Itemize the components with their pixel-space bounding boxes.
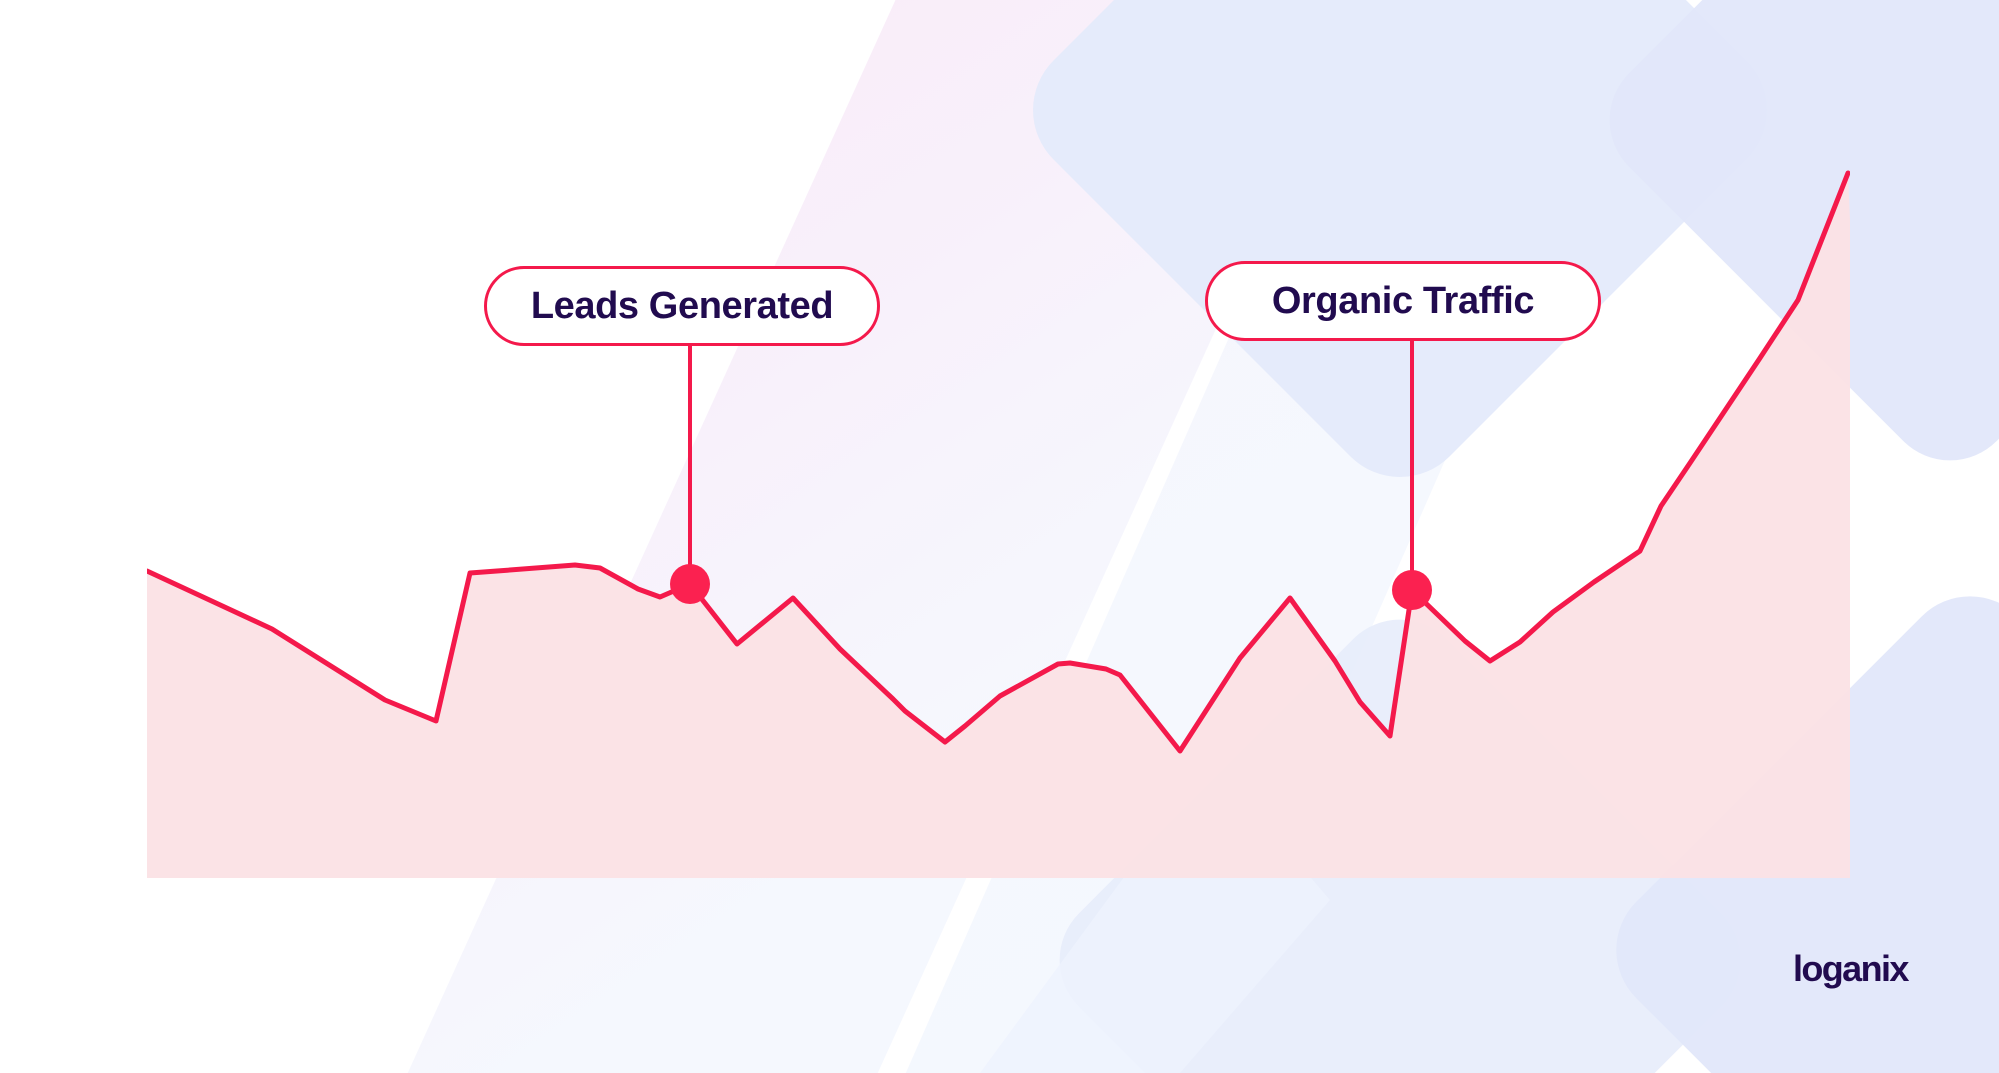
callout-leads-generated-label: Leads Generated — [531, 287, 833, 325]
callout-organic-traffic-label: Organic Traffic — [1272, 282, 1534, 320]
loganix-wordmark-icon: loganix — [1793, 946, 1933, 998]
svg-text:loganix: loganix — [1793, 948, 1909, 989]
data-point-marker-organic-traffic[interactable] — [1392, 570, 1432, 610]
infographic-canvas: Leads Generated Organic Traffic loganix — [0, 0, 1999, 1073]
data-point-marker-leads-generated[interactable] — [670, 564, 710, 604]
callout-organic-traffic[interactable]: Organic Traffic — [1205, 261, 1601, 341]
callout-leads-generated[interactable]: Leads Generated — [484, 266, 880, 346]
loganix-logo[interactable]: loganix — [1793, 946, 1933, 998]
annotation-layer — [0, 0, 1999, 1073]
